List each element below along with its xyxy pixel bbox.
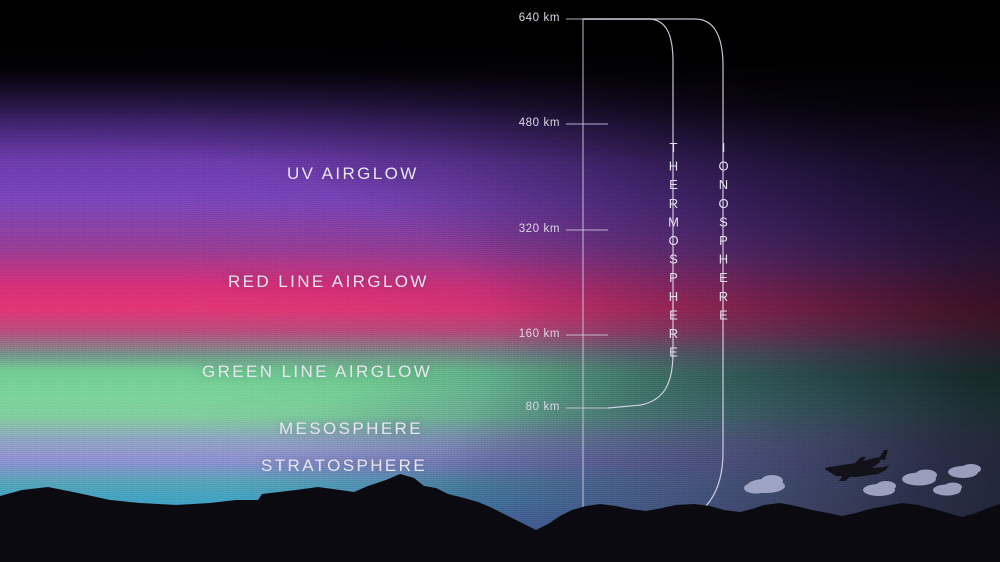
axis-tick-label-80: 80 km — [460, 401, 560, 413]
bracket-label-thermosphere: THERMOSPHERE — [666, 140, 681, 363]
cloud — [933, 483, 962, 496]
axis-tick-label-480: 480 km — [460, 117, 560, 129]
cloud — [902, 470, 937, 486]
airplane-icon — [825, 450, 889, 481]
mountain-silhouette — [0, 474, 1000, 562]
cloud — [863, 481, 896, 496]
atmosphere-diagram: UV AIRGLOW RED LINE AIRGLOW GREEN LINE A… — [0, 0, 1000, 562]
thermosphere-bracket — [583, 19, 673, 408]
axis-tick-label-320: 320 km — [460, 223, 560, 235]
diagram-overlay — [0, 0, 1000, 562]
cloud — [948, 464, 981, 478]
bracket-label-ionosphere: IONOSPHERE — [716, 140, 731, 326]
axis-tick-label-160: 160 km — [460, 328, 560, 340]
cloud — [744, 475, 785, 494]
ionosphere-bracket — [583, 19, 723, 527]
axis-tick-label-640: 640 km — [460, 12, 560, 24]
